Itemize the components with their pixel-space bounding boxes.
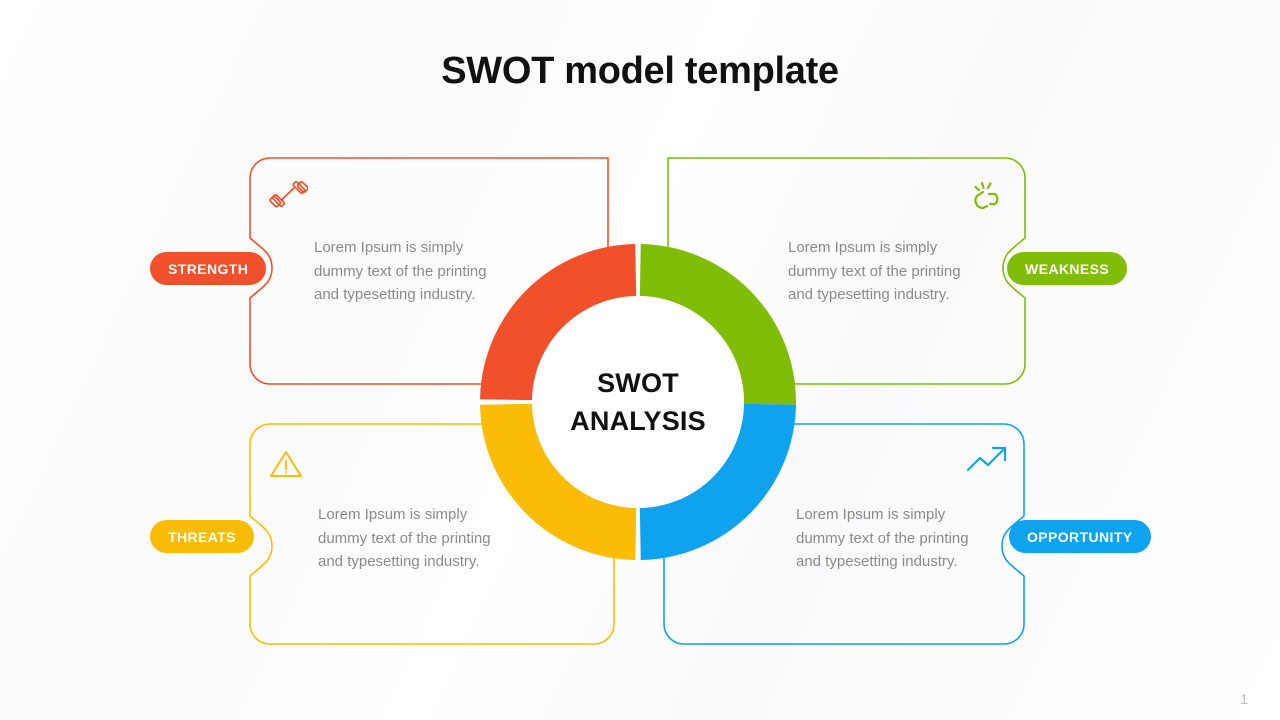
pill-label-opportunity: OPPORTUNITY — [1027, 529, 1133, 545]
trend-up-arrow-icon — [962, 440, 1012, 480]
pill-opportunity[interactable]: OPPORTUNITY — [1009, 520, 1151, 553]
card-text-weakness: Lorem Ipsum is simply dummy text of the … — [788, 236, 988, 307]
slide-canvas: SWOT model template Lorem Ipsum is simpl… — [0, 0, 1280, 720]
pill-weakness[interactable]: WEAKNESS — [1007, 252, 1127, 285]
pill-strength[interactable]: STRENGTH — [150, 252, 266, 285]
card-text-opportunity: Lorem Ipsum is simply dummy text of the … — [796, 503, 996, 574]
dumbbell-icon — [268, 174, 308, 214]
broken-link-icon — [962, 170, 1010, 218]
pill-label-threats: THREATS — [168, 529, 236, 545]
warning-triangle-icon — [268, 446, 304, 482]
pill-threats[interactable]: THREATS — [150, 520, 254, 553]
swot-donut-chart: SWOT ANALYSIS — [468, 232, 808, 572]
pill-label-weakness: WEAKNESS — [1025, 261, 1109, 277]
pill-label-strength: STRENGTH — [168, 261, 248, 277]
page-number: 1 — [1240, 691, 1248, 707]
page-title: SWOT model template — [0, 50, 1280, 93]
